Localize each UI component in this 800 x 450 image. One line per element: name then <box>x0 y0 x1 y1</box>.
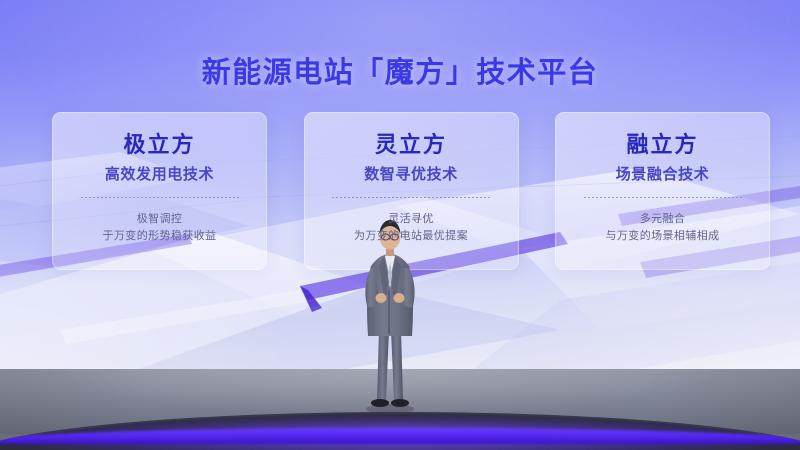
leg-right <box>391 330 403 400</box>
presenter-figure <box>355 218 425 414</box>
card-subtitle: 数智寻优技术 <box>304 167 519 182</box>
card-divider <box>332 197 490 198</box>
hand-right <box>394 293 405 303</box>
card-heading: 灵立方 <box>304 134 519 156</box>
card-heading: 融立方 <box>555 134 770 156</box>
card-body-line: 极智调控 <box>52 211 267 228</box>
stage-keynote-screenshot: 新能源电站「魔方」技术平台 极立方 高效发用电技术 极智调控 于万变的形势稳获收… <box>0 0 800 450</box>
card-divider <box>584 197 742 198</box>
feature-card-ji-li-fang: 极立方 高效发用电技术 极智调控 于万变的形势稳获收益 <box>52 112 267 270</box>
card-heading: 极立方 <box>52 134 267 156</box>
card-subtitle: 场景融合技术 <box>555 167 770 182</box>
card-divider <box>81 197 239 198</box>
card-body: 极智调控 于万变的形势稳获收益 <box>52 211 267 245</box>
feature-card-rong-li-fang: 融立方 场景融合技术 多元融合 与万变的场景相辅相成 <box>555 112 770 270</box>
leg-left <box>377 330 389 400</box>
card-body-line: 于万变的形势稳获收益 <box>52 228 267 245</box>
page-title: 新能源电站「魔方」技术平台 <box>0 49 800 91</box>
card-body-line: 多元融合 <box>555 211 770 228</box>
card-body-line: 为万变的电站最优提案 <box>304 228 519 245</box>
shoe-right <box>391 399 409 407</box>
card-body: 灵活寻优 为万变的电站最优提案 <box>304 211 519 245</box>
card-subtitle: 高效发用电技术 <box>52 167 267 182</box>
hand-left <box>376 293 387 303</box>
card-body-line: 灵活寻优 <box>304 211 519 228</box>
shoe-left <box>371 399 389 407</box>
card-body-line: 与万变的场景相辅相成 <box>555 228 770 245</box>
card-body: 多元融合 与万变的场景相辅相成 <box>555 211 770 245</box>
